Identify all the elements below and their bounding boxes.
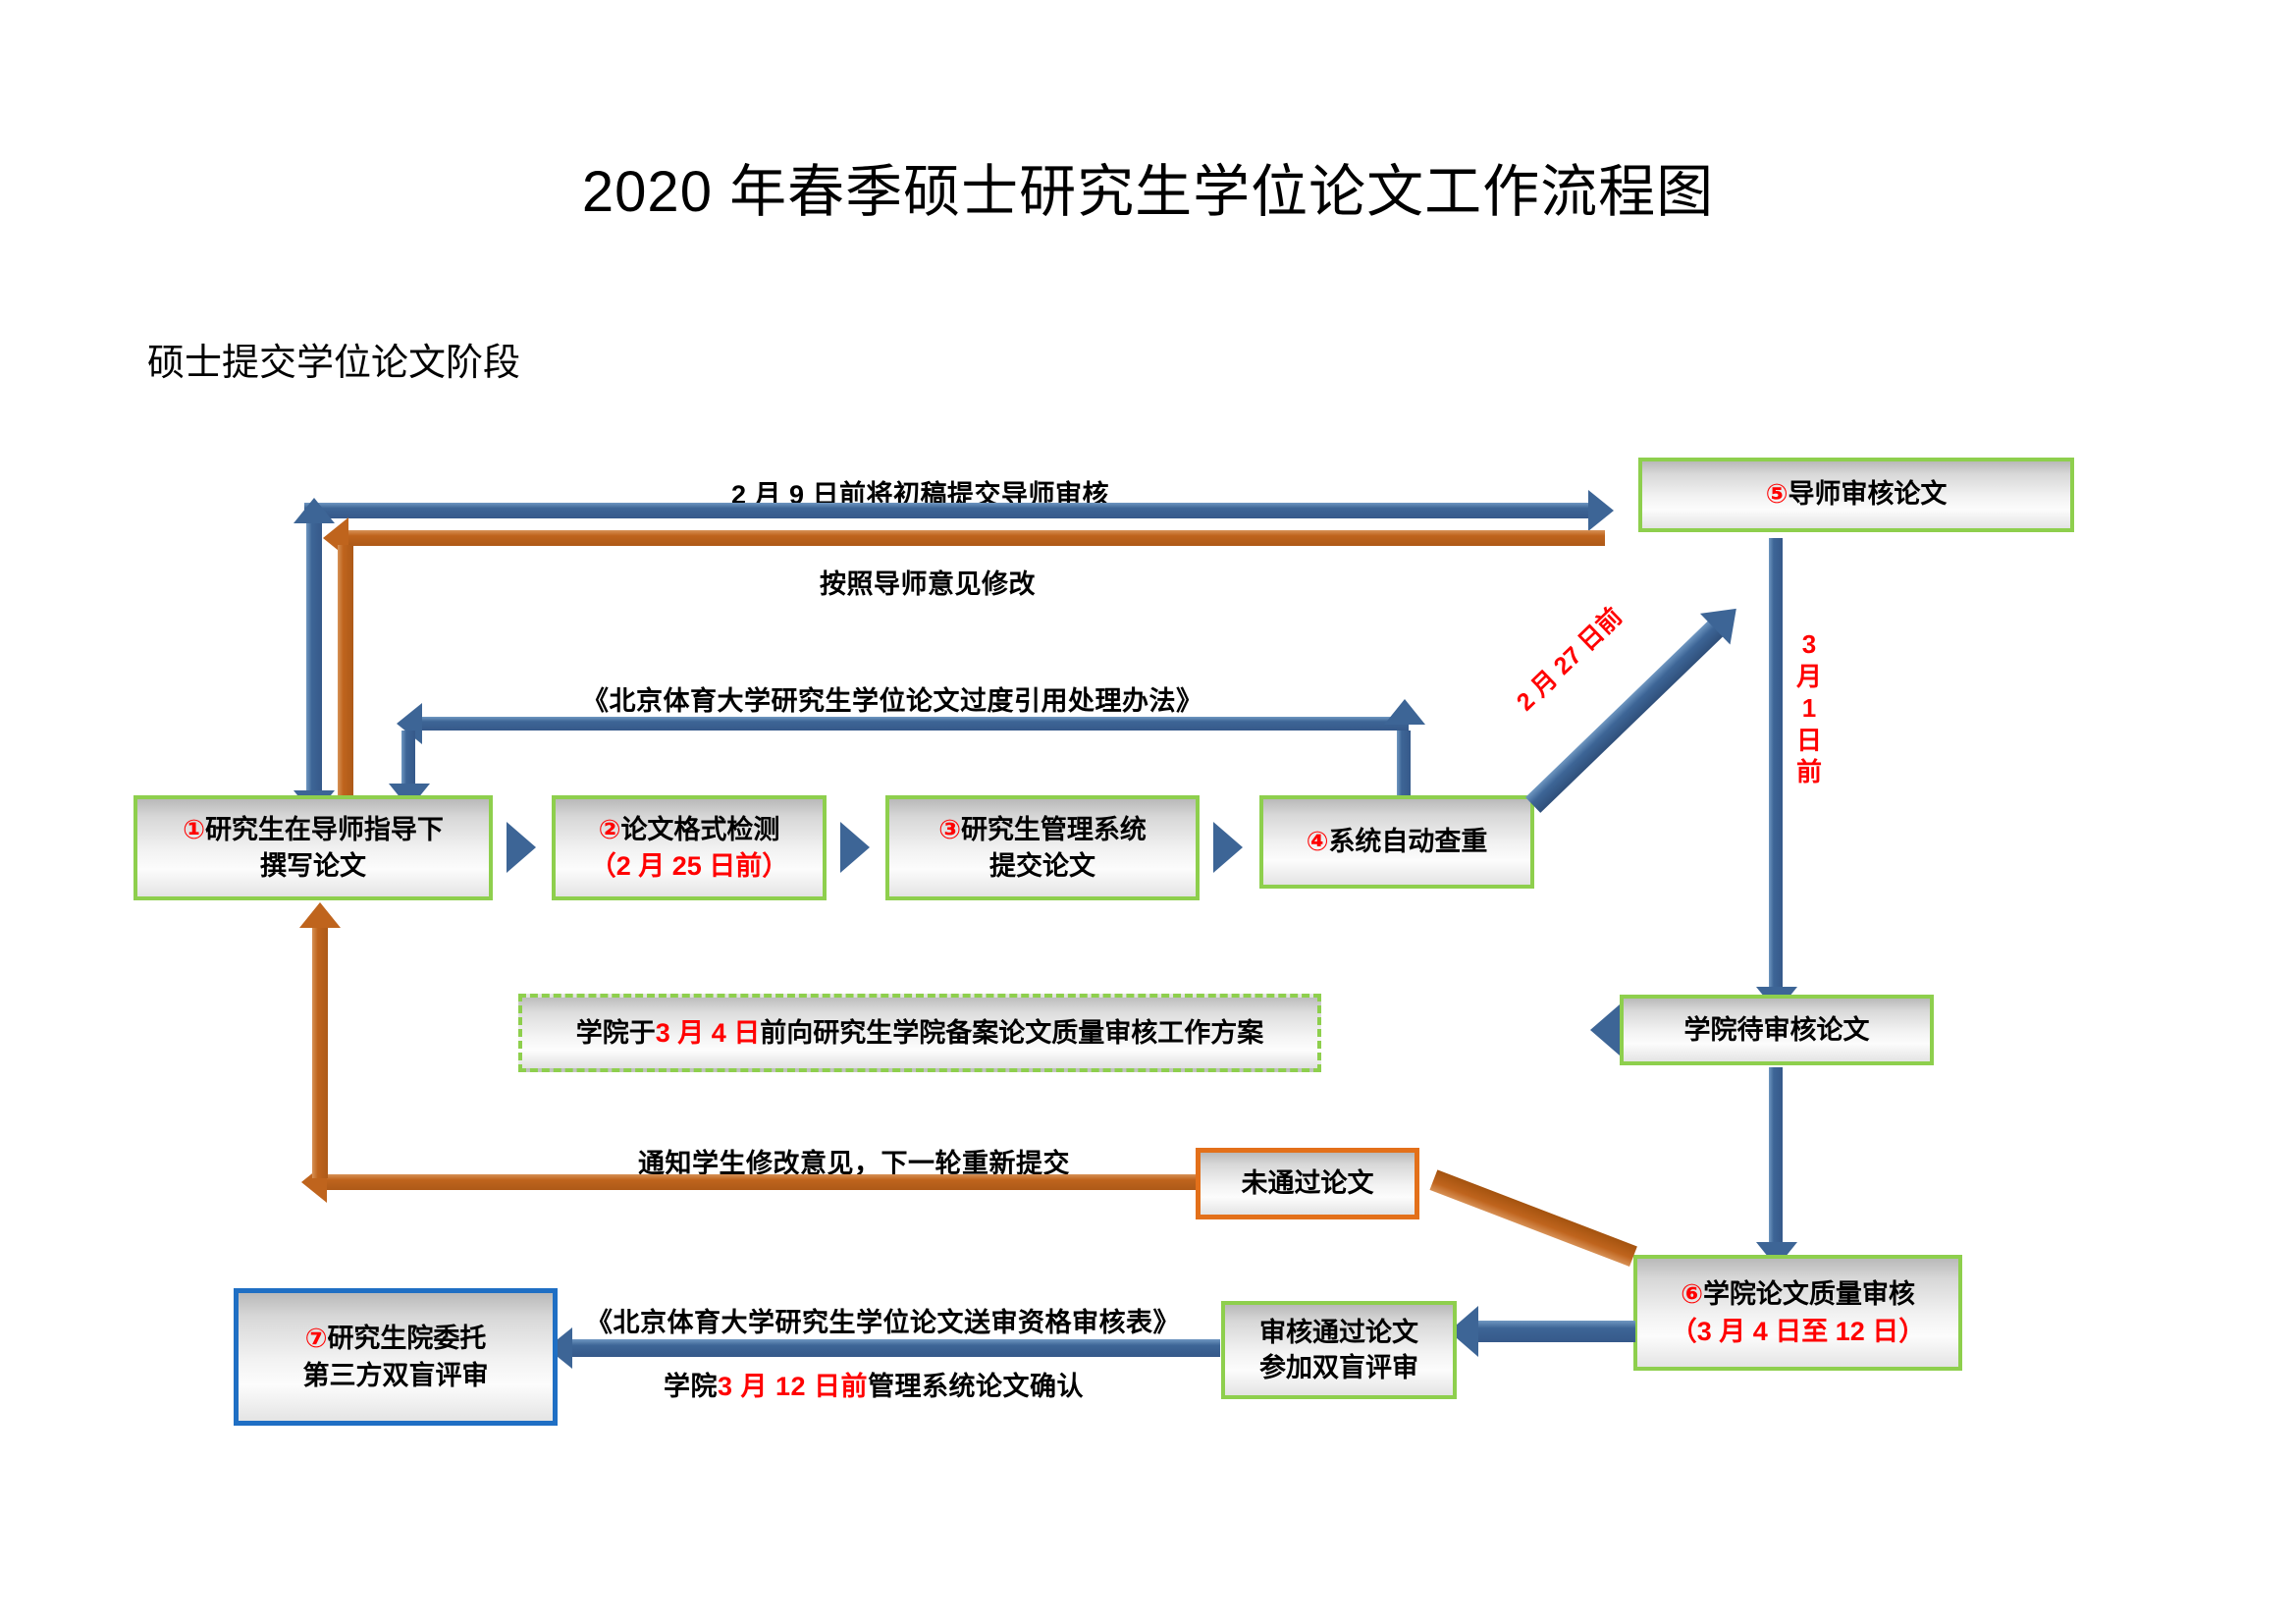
arrow-into-pending-left [1590, 1004, 1620, 1056]
node-step4-line1: ④系统自动查重 [1307, 824, 1488, 860]
arrow-citation-drop [401, 731, 415, 789]
node-step3-line1: ③研究生管理系统 [938, 812, 1147, 848]
arrow-passed-to-step7-shaft [572, 1339, 1220, 1357]
node-passed-line2: 参加双盲评审 [1259, 1350, 1418, 1385]
arrow-citation-shaft-h [422, 717, 1409, 731]
arrow-revise-shaft-v [338, 545, 353, 810]
arrow-pending-to-step6-shaft [1769, 1067, 1783, 1249]
node-failed-line1: 未通过论文 [1242, 1165, 1374, 1201]
arrow-step1-to-step2 [507, 822, 536, 873]
node-step7-line2: 第三方双盲评审 [303, 1358, 489, 1393]
arrow-step5-to-pending-shaft [1769, 538, 1783, 995]
arrow-notify-shaft-v [312, 928, 328, 1178]
arrow-step6-to-passed-shaft [1478, 1321, 1635, 1342]
node-step6[interactable]: ⑥学院论文质量审核 （3 月 4 日至 12 日） [1633, 1255, 1962, 1371]
node-step1-number: ① [183, 813, 205, 848]
node-step2-line2: （2 月 25 日前） [590, 848, 789, 884]
node-step1-line2: 撰写论文 [260, 848, 366, 884]
node-step5[interactable]: ⑤导师审核论文 [1638, 458, 2074, 532]
node-step7-number: ⑦ [305, 1322, 328, 1357]
node-passed[interactable]: 审核通过论文 参加双盲评审 [1221, 1301, 1457, 1399]
edge-label-mar1-c1: 3 [1796, 628, 1822, 661]
node-step4[interactable]: ④系统自动查重 [1259, 795, 1534, 889]
arrow-step6-to-failed-shaft [1429, 1169, 1636, 1267]
node-step6-line2: （3 月 4 日至 12 日） [1671, 1314, 1926, 1349]
edge-label-over-citation-rule: 《北京体育大学研究生学位论文过度引用处理办法》 [582, 679, 1203, 718]
edge-label-mar1-c4: 日 [1796, 725, 1822, 757]
node-step5-number: ⑤ [1766, 477, 1789, 513]
node-step1[interactable]: ①研究生在导师指导下 撰写论文 [133, 795, 493, 900]
node-pending[interactable]: 学院待审核论文 [1620, 995, 1934, 1065]
arrow-notify-head-up [299, 902, 341, 928]
node-step6-line1: ⑥学院论文质量审核 [1681, 1276, 1915, 1313]
node-step2[interactable]: ②论文格式检测 （2 月 25 日前） [552, 795, 827, 900]
arrow-submit-head [1588, 490, 1614, 531]
arrow-citation-riser-head [1384, 699, 1425, 725]
node-failed[interactable]: 未通过论文 [1196, 1148, 1419, 1219]
node-plan-note-date: 3 月 4 日 [656, 1018, 761, 1048]
edge-label-feb27: 2 月 27 日前 [1507, 598, 1629, 717]
node-step4-number: ④ [1307, 825, 1329, 860]
node-step5-line1: ⑤导师审核论文 [1766, 476, 1948, 513]
edge-label-mar1-c5: 前 [1796, 756, 1822, 788]
arrow-submit-shaft-h [304, 503, 1590, 518]
edge-label-revise-per-advisor: 按照导师意见修改 [820, 563, 1036, 601]
arrow-revise-shaft-h [348, 530, 1605, 546]
node-step1-line1: ①研究生在导师指导下 [183, 812, 444, 848]
page-title: 2020 年春季硕士研究生学位论文工作流程图 [0, 145, 2296, 228]
edge-label-review-form: 《北京体育大学研究生学位论文送审资格审核表》 [586, 1301, 1180, 1339]
edge-label-mar1-c3: 1 [1796, 692, 1822, 725]
node-passed-line1: 审核通过论文 [1259, 1315, 1418, 1350]
arrow-submit-shaft-v [306, 517, 322, 797]
edge-label-confirm: 学院3 月 12 日前管理系统论文确认 [664, 1365, 1084, 1403]
arrow-step2-to-step3 [840, 822, 870, 873]
node-pending-line1: 学院待审核论文 [1684, 1012, 1870, 1048]
arrow-citation-riser [1397, 731, 1411, 799]
node-step3-number: ③ [938, 813, 961, 848]
arrow-notify-shaft-h [327, 1174, 1196, 1190]
arrow-step3-to-step4 [1213, 822, 1243, 873]
node-plan-note-text: 学院于3 月 4 日前向研究生学院备案论文质量审核工作方案 [576, 1015, 1264, 1051]
node-plan-note[interactable]: 学院于3 月 4 日前向研究生学院备案论文质量审核工作方案 [518, 994, 1321, 1072]
flowchart-canvas: 2020 年春季硕士研究生学位论文工作流程图 硕士提交学位论文阶段 2 月 9 … [0, 0, 2296, 1624]
node-step7[interactable]: ⑦研究生院委托 第三方双盲评审 [234, 1288, 558, 1426]
edge-label-mar1-c2: 月 [1796, 661, 1822, 693]
node-step7-line1: ⑦研究生院委托 [305, 1321, 487, 1357]
edge-label-confirm-date: 3 月 12 日前 [718, 1372, 868, 1401]
edge-label-mar1: 3 月 1 日 前 [1796, 628, 1822, 788]
node-step2-line1: ②论文格式检测 [599, 812, 780, 848]
node-step2-number: ② [599, 813, 621, 848]
section-subtitle: 硕士提交学位论文阶段 [147, 332, 520, 386]
node-step6-number: ⑥ [1681, 1277, 1703, 1313]
node-step3-line2: 提交论文 [989, 848, 1095, 884]
node-step3[interactable]: ③研究生管理系统 提交论文 [885, 795, 1200, 900]
